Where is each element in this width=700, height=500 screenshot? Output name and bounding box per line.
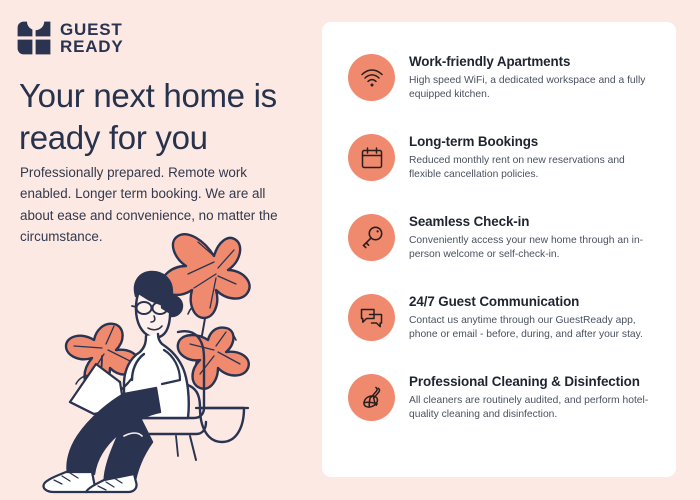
broom-icon — [358, 384, 385, 411]
page-title: Your next home is ready for you — [19, 75, 309, 159]
seated-person — [43, 272, 188, 492]
brand-logo[interactable]: GUEST READY — [17, 21, 124, 55]
feature-text: Work-friendly Apartments High speed WiFi… — [409, 52, 658, 103]
feature-text: Long-term Bookings Reduced monthly rent … — [409, 132, 658, 183]
feature-item-seamless-check-in[interactable]: Seamless Check-in Conveniently access yo… — [322, 212, 676, 270]
feature-text: Professional Cleaning & Disinfection All… — [409, 372, 658, 423]
feature-description: Contact us anytime through our GuestRead… — [409, 314, 658, 343]
brand-wordmark: GUEST READY — [60, 21, 124, 55]
calendar-icon — [359, 145, 385, 171]
feature-title: Professional Cleaning & Disinfection — [409, 374, 658, 391]
brand-name-line-2: READY — [60, 38, 124, 55]
guestready-quadrant-logo-icon — [17, 21, 51, 55]
marketing-landing-page: GUEST READY Your next home is ready for … — [0, 0, 700, 500]
feature-title: 24/7 Guest Communication — [409, 294, 658, 311]
brand-name-line-1: GUEST — [60, 21, 124, 38]
feature-description: Reduced monthly rent on new reservations… — [409, 154, 658, 183]
wifi-icon — [359, 65, 385, 91]
key-icon — [358, 224, 385, 251]
hero-column: GUEST READY Your next home is ready for … — [0, 0, 320, 500]
feature-title: Work-friendly Apartments — [409, 54, 658, 71]
feature-item-guest-communication[interactable]: 24/7 Guest Communication Contact us anyt… — [322, 292, 676, 350]
feature-item-long-term-bookings[interactable]: Long-term Bookings Reduced monthly rent … — [322, 132, 676, 190]
feature-icon-badge — [348, 294, 395, 341]
feature-icon-badge — [348, 134, 395, 181]
feature-item-work-friendly-apartments[interactable]: Work-friendly Apartments High speed WiFi… — [322, 52, 676, 110]
plant-leaf-cluster-mid — [178, 328, 249, 389]
feature-title: Long-term Bookings — [409, 134, 658, 151]
features-card: Work-friendly Apartments High speed WiFi… — [322, 22, 676, 477]
feature-icon-badge — [348, 214, 395, 261]
feature-description: Conveniently access your new home throug… — [409, 234, 658, 263]
feature-title: Seamless Check-in — [409, 214, 658, 231]
hero-illustration — [28, 222, 313, 494]
person-with-laptop-and-plants-illustration — [28, 222, 313, 494]
feature-description: High speed WiFi, a dedicated workspace a… — [409, 74, 658, 103]
feature-text: Seamless Check-in Conveniently access yo… — [409, 212, 658, 263]
feature-description: All cleaners are routinely audited, and … — [409, 394, 658, 423]
chat-bubbles-icon — [358, 304, 385, 331]
feature-list: Work-friendly Apartments High speed WiFi… — [322, 22, 676, 430]
feature-text: 24/7 Guest Communication Contact us anyt… — [409, 292, 658, 343]
feature-item-cleaning-disinfection[interactable]: Professional Cleaning & Disinfection All… — [322, 372, 676, 430]
feature-icon-badge — [348, 54, 395, 101]
feature-icon-badge — [348, 374, 395, 421]
